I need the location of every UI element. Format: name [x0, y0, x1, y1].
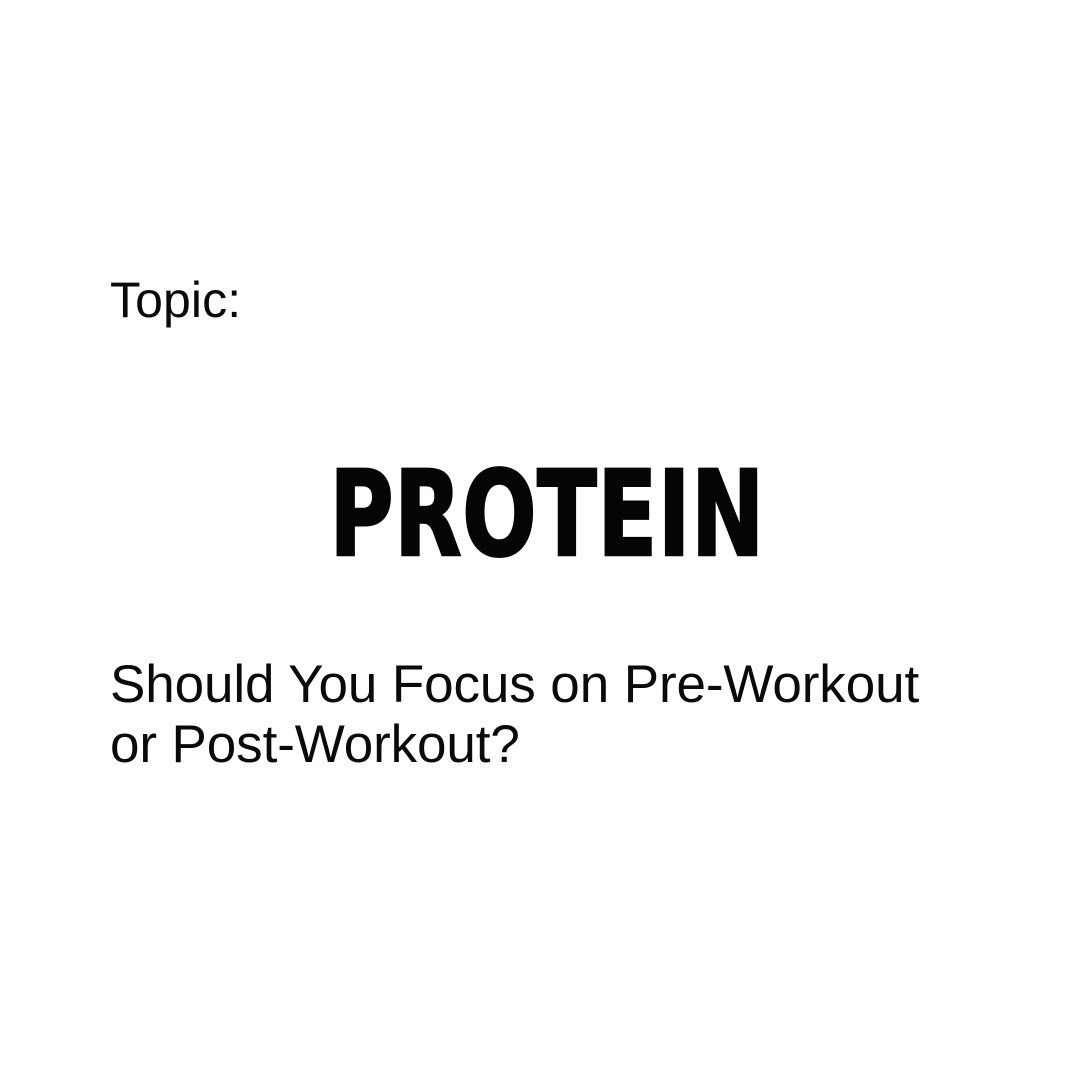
keyword-protein: PROTEIN	[329, 455, 764, 573]
topic-label: Topic:	[110, 274, 241, 327]
topic-card: Topic: PROTEIN Should You Focus on Pre-W…	[0, 0, 1080, 1080]
headline-line-2: or Post-Workout?	[110, 715, 1010, 775]
headline-line-1: Should You Focus on Pre-Workout	[110, 655, 1010, 715]
keyword-container: PROTEIN	[0, 455, 1080, 570]
headline: Should You Focus on Pre-Workout or Post-…	[110, 655, 1010, 775]
